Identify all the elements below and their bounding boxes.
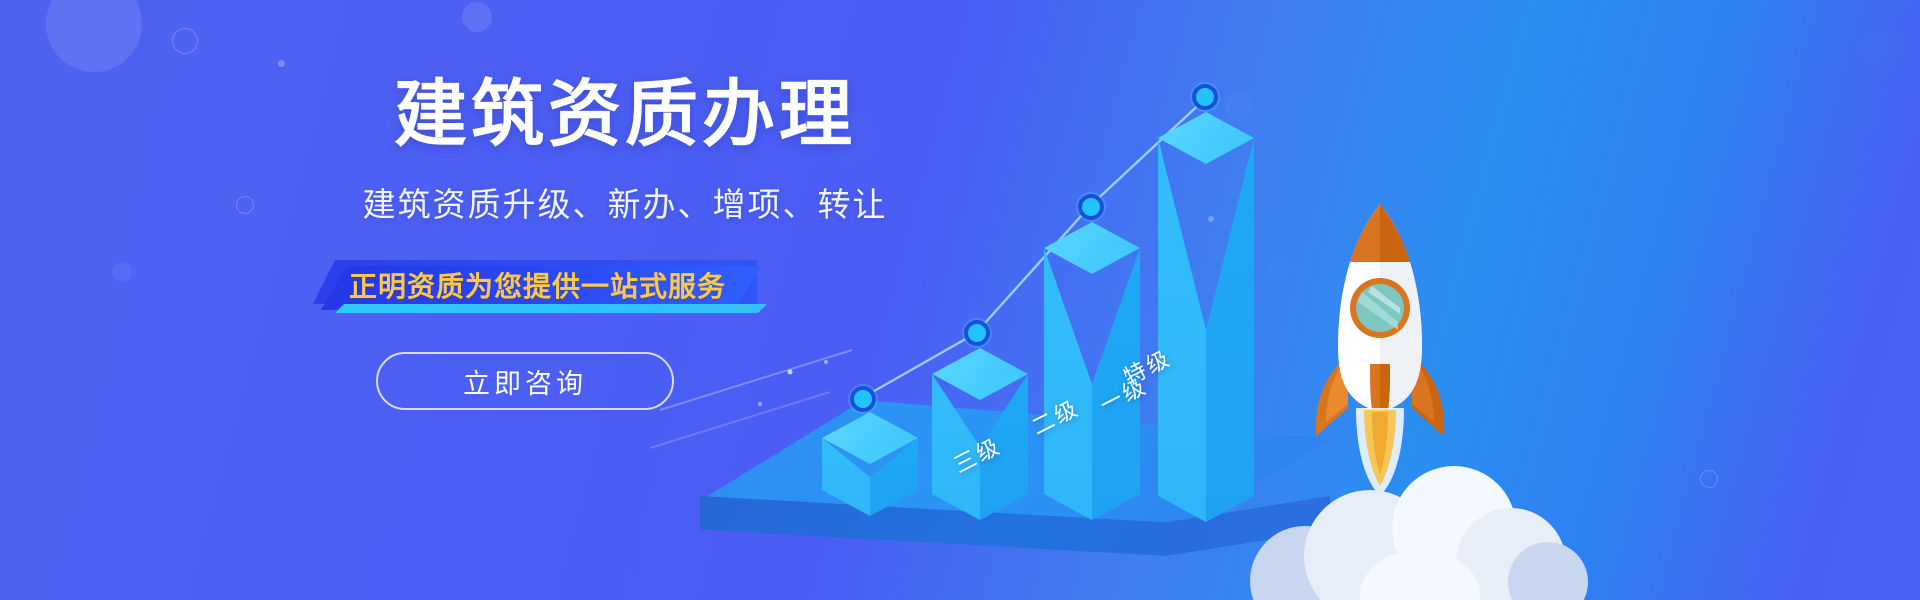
promo-banner: 建筑资质办理 建筑资质升级、新办、增项、转让 正明资质为您提供一站式服务 立即咨… xyxy=(0,0,1920,600)
chart-node-marker-0 xyxy=(850,386,876,412)
decor-bubble xyxy=(62,430,182,550)
consult-button[interactable]: 立即咨询 xyxy=(376,352,674,410)
decor-bubble xyxy=(112,262,132,282)
decor-bubble-ring xyxy=(172,28,198,54)
bar-top-face xyxy=(1044,222,1140,274)
decor-bubble-ring xyxy=(236,196,254,214)
chart-node-marker-1 xyxy=(964,320,990,346)
chart-bar-0 xyxy=(822,412,918,516)
bar-left-face xyxy=(1044,248,1092,520)
decor-dot xyxy=(278,60,285,67)
decor-bubble-ring xyxy=(1700,470,1718,488)
cloud-cluster xyxy=(1240,430,1580,600)
decor-bubble xyxy=(46,0,142,72)
chart-node-marker-3 xyxy=(1192,84,1218,110)
bar-top-face xyxy=(1158,112,1254,164)
bar-left-face xyxy=(1158,138,1206,522)
chart-node-marker-2 xyxy=(1078,194,1104,220)
bar-top-face xyxy=(932,348,1028,400)
decor-bubble xyxy=(1860,30,1900,70)
decor-bubble xyxy=(462,2,492,32)
consult-button-label: 立即咨询 xyxy=(463,362,587,401)
